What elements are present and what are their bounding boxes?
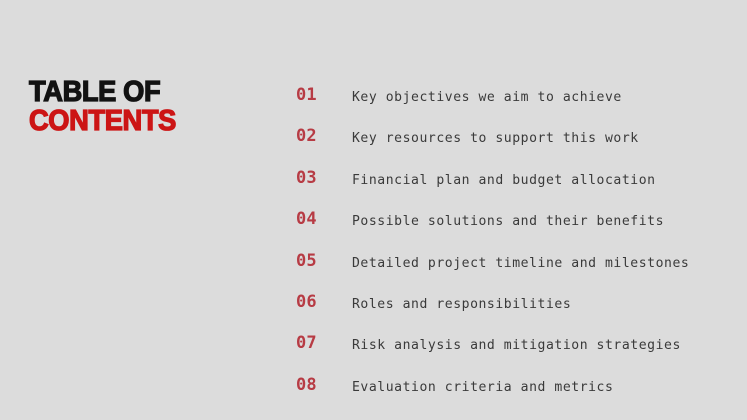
list-item[interactable]: 02 Key resources to support this work [296,126,736,167]
list-item[interactable]: 04 Possible solutions and their benefits [296,209,736,250]
list-item-label: Financial plan and budget allocation [352,168,736,191]
list-item-label: Possible solutions and their benefits [352,209,736,232]
list-item-number: 05 [296,251,352,272]
list-item[interactable]: 01 Key objectives we aim to achieve [296,85,736,126]
list-item-label: Risk analysis and mitigation strategies [352,333,736,356]
list-item[interactable]: 06 Roles and responsibilities [296,292,736,333]
table-of-contents-list: 01 Key objectives we aim to achieve 02 K… [296,85,736,416]
list-item-label: Roles and responsibilities [352,292,736,315]
list-item-number: 06 [296,292,352,313]
list-item-label: Key resources to support this work [352,126,736,149]
list-item[interactable]: 08 Evaluation criteria and metrics [296,375,736,416]
page-title-line-1: TABLE OF [29,79,264,106]
list-item[interactable]: 03 Financial plan and budget allocation [296,168,736,209]
page-title: TABLE OF CONTENTS [29,79,279,135]
list-item-label: Key objectives we aim to achieve [352,85,736,108]
list-item-number: 08 [296,375,352,396]
table-of-contents-slide: TABLE OF CONTENTS 01 Key objectives we a… [0,0,747,420]
list-item-number: 02 [296,126,352,147]
list-item-number: 07 [296,333,352,354]
list-item[interactable]: 07 Risk analysis and mitigation strategi… [296,333,736,374]
list-item-label: Evaluation criteria and metrics [352,375,736,398]
list-item-number: 03 [296,168,352,189]
list-item-number: 01 [296,85,352,106]
list-item-label: Detailed project timeline and milestones [352,251,736,274]
list-item[interactable]: 05 Detailed project timeline and milesto… [296,251,736,292]
list-item-number: 04 [296,209,352,230]
page-title-line-2: CONTENTS [29,108,264,135]
